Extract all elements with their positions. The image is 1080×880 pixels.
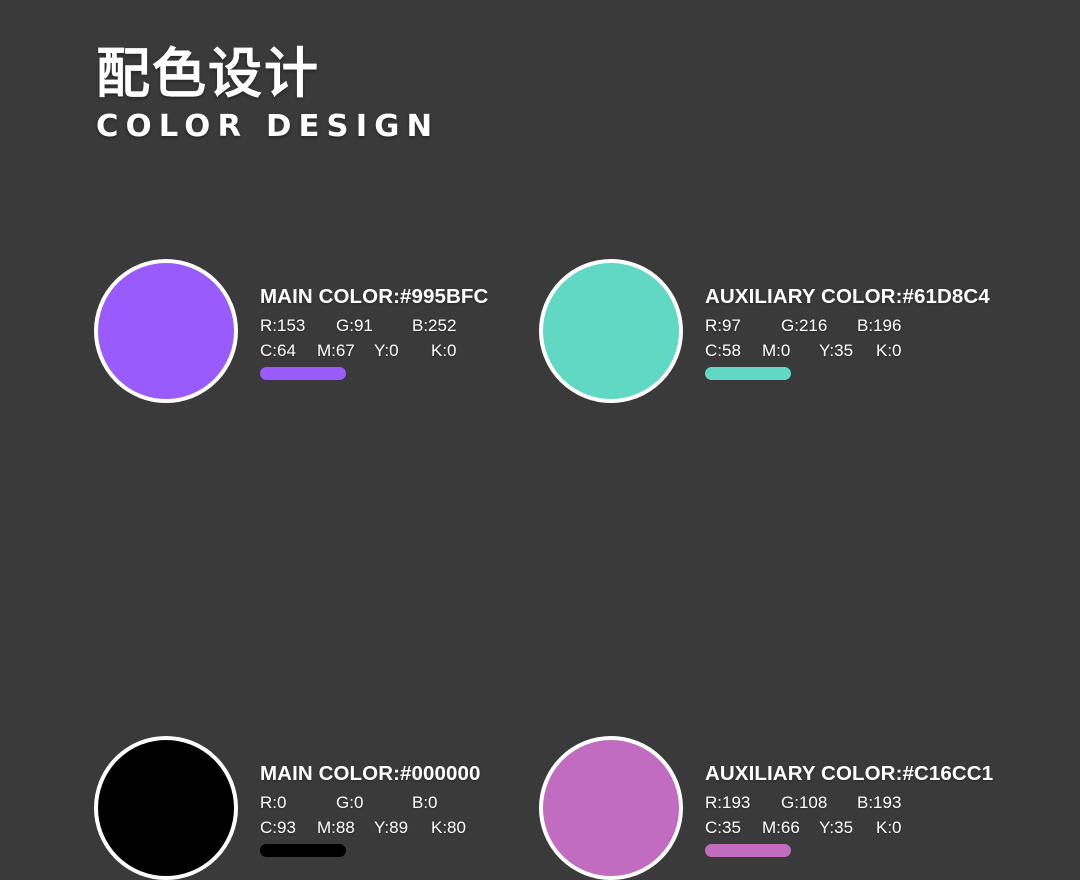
rgb-red: R:153 — [260, 317, 336, 334]
rgb-green: G:0 — [336, 794, 412, 811]
color-design-page: { "page": { "background_color": "#3A3A3A… — [0, 0, 1080, 764]
color-pill-995bfc — [260, 367, 346, 380]
rgb-red: R:0 — [260, 794, 336, 811]
cmyk-key: K:0 — [876, 819, 933, 836]
cmyk-yellow: Y:35 — [819, 819, 876, 836]
cmyk-cyan: C:58 — [705, 342, 762, 359]
rgb-blue: B:252 — [412, 317, 488, 334]
color-rgb-values: R:193G:108B:193 — [705, 794, 993, 811]
color-circle-c16cc1[interactable] — [539, 736, 683, 880]
color-swatch-auxiliary-61d8c4[interactable]: AUXILIARY COLOR:#61D8C4 R:97G:216B:196 C… — [539, 259, 990, 403]
color-info-000000: MAIN COLOR:#000000 R:0G:0B:0 C:93M:88Y:8… — [260, 736, 488, 857]
page-title-cn: 配色设计 — [96, 44, 433, 104]
color-cmyk-values: C:58M:0Y:35K:0 — [705, 342, 990, 359]
rgb-green: G:216 — [781, 317, 857, 334]
cmyk-cyan: C:35 — [705, 819, 762, 836]
color-heading: MAIN COLOR:#995BFC — [260, 287, 488, 308]
rgb-red: R:97 — [705, 317, 781, 334]
cmyk-magenta: M:66 — [762, 819, 819, 836]
rgb-green: G:91 — [336, 317, 412, 334]
cmyk-key: K:80 — [431, 819, 488, 836]
color-swatch-main-000000[interactable]: MAIN COLOR:#000000 R:0G:0B:0 C:93M:88Y:8… — [94, 736, 488, 880]
rgb-blue: B:193 — [857, 794, 933, 811]
page-title-en: COLOR DESIGN — [96, 112, 439, 142]
color-pill-61d8c4 — [705, 367, 791, 380]
color-info-995bfc: MAIN COLOR:#995BFC R:153G:91B:252 C:64M:… — [260, 259, 488, 380]
color-cmyk-values: C:64M:67Y:0K:0 — [260, 342, 488, 359]
cmyk-magenta: M:88 — [317, 819, 374, 836]
color-cmyk-values: C:93M:88Y:89K:80 — [260, 819, 488, 836]
swatch-row-1: MAIN COLOR:#995BFC R:153G:91B:252 C:64M:… — [0, 259, 1080, 497]
color-circle-995bfc[interactable] — [94, 259, 238, 403]
cmyk-magenta: M:67 — [317, 342, 374, 359]
color-swatch-grid: MAIN COLOR:#995BFC R:153G:91B:252 C:64M:… — [0, 259, 1080, 735]
cmyk-cyan: C:64 — [260, 342, 317, 359]
color-pill-c16cc1 — [705, 844, 791, 857]
rgb-green: G:108 — [781, 794, 857, 811]
cmyk-yellow: Y:35 — [819, 342, 876, 359]
rgb-blue: B:196 — [857, 317, 933, 334]
color-heading: AUXILIARY COLOR:#61D8C4 — [705, 287, 990, 308]
color-rgb-values: R:0G:0B:0 — [260, 794, 488, 811]
color-circle-000000[interactable] — [94, 736, 238, 880]
color-rgb-values: R:153G:91B:252 — [260, 317, 488, 334]
rgb-red: R:193 — [705, 794, 781, 811]
color-heading: AUXILIARY COLOR:#C16CC1 — [705, 764, 993, 785]
swatch-row-2: MAIN COLOR:#000000 R:0G:0B:0 C:93M:88Y:8… — [0, 497, 1080, 735]
cmyk-key: K:0 — [431, 342, 488, 359]
cmyk-cyan: C:93 — [260, 819, 317, 836]
cmyk-yellow: Y:0 — [374, 342, 431, 359]
color-info-61d8c4: AUXILIARY COLOR:#61D8C4 R:97G:216B:196 C… — [705, 259, 990, 380]
color-heading: MAIN COLOR:#000000 — [260, 764, 488, 785]
cmyk-key: K:0 — [876, 342, 933, 359]
color-rgb-values: R:97G:216B:196 — [705, 317, 990, 334]
color-swatch-main-995bfc[interactable]: MAIN COLOR:#995BFC R:153G:91B:252 C:64M:… — [94, 259, 488, 403]
rgb-blue: B:0 — [412, 794, 488, 811]
color-info-c16cc1: AUXILIARY COLOR:#C16CC1 R:193G:108B:193 … — [705, 736, 993, 857]
cmyk-magenta: M:0 — [762, 342, 819, 359]
cmyk-yellow: Y:89 — [374, 819, 431, 836]
color-swatch-auxiliary-c16cc1[interactable]: AUXILIARY COLOR:#C16CC1 R:193G:108B:193 … — [539, 736, 993, 880]
page-header: 配色设计 COLOR DESIGN — [96, 44, 433, 142]
color-pill-000000 — [260, 844, 346, 857]
color-circle-61d8c4[interactable] — [539, 259, 683, 403]
color-cmyk-values: C:35M:66Y:35K:0 — [705, 819, 993, 836]
